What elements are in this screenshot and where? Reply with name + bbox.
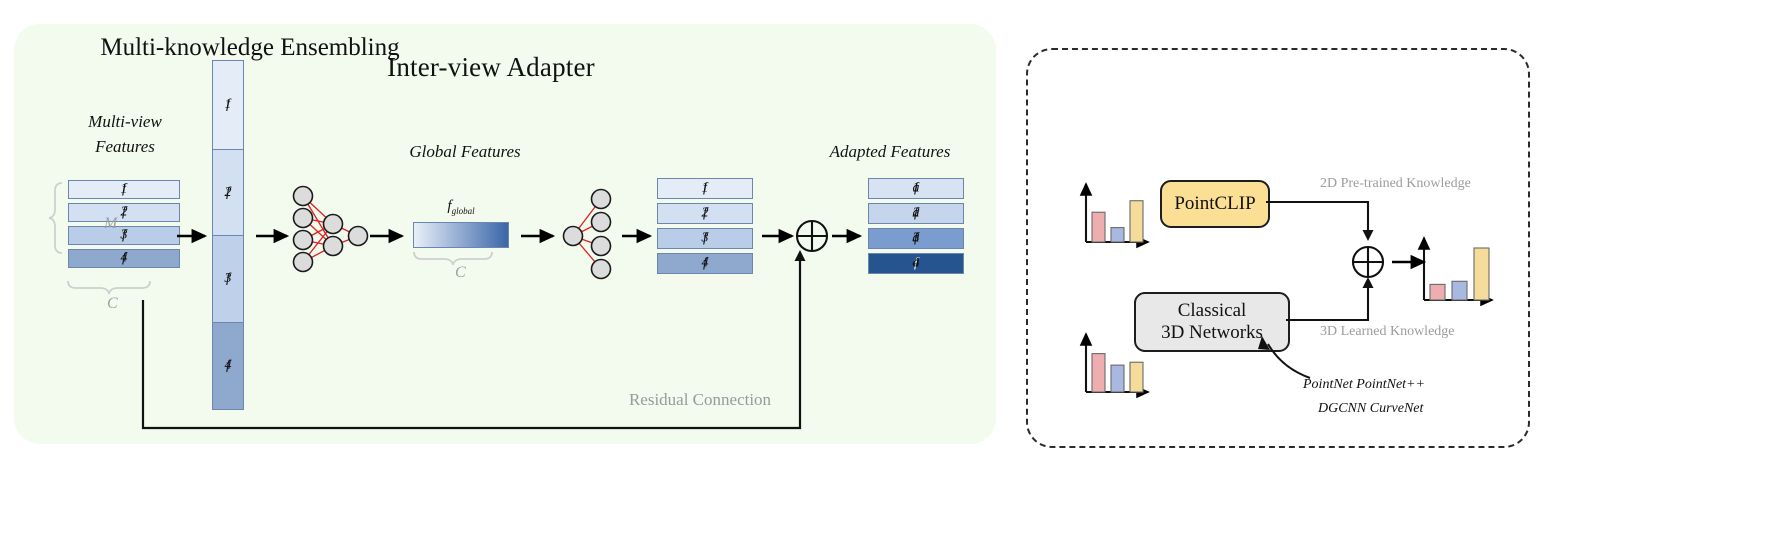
intermediate-feature-box-2: f2 <box>657 203 753 224</box>
feature-label: f2 <box>658 205 752 221</box>
feature-label: f1 <box>213 97 243 113</box>
feature-label: f1 <box>658 180 752 196</box>
concat-segment-3: f3 <box>212 235 244 323</box>
multi-knowledge-ensembling-panel <box>1026 48 1530 448</box>
adapted-feature-box-1: fa1 <box>868 178 964 199</box>
multi-view-feature-box-3: f3 <box>68 226 180 245</box>
brace-label-M: M <box>104 215 117 233</box>
feature-label: f4 <box>69 250 179 266</box>
adapted-features-label: Adapted Features <box>790 140 990 165</box>
concat-segment-2: f2 <box>212 149 244 237</box>
classical-3d-networks-box[interactable]: Classical 3D Networks <box>1134 292 1290 352</box>
multi-view-feature-box-1: f1 <box>68 180 180 199</box>
brace-label-C-global: C <box>455 264 466 282</box>
feature-label: f2 <box>213 185 243 201</box>
note-3d-learned-knowledge: 3D Learned Knowledge <box>1320 324 1455 340</box>
feature-label: fa4 <box>869 255 963 271</box>
concat-segment-4: f4 <box>212 322 244 410</box>
multi-view-feature-stack: f1f2f3f4 <box>68 180 180 272</box>
feature-label: f4 <box>213 358 243 374</box>
network-names-line2: DGCNN CurveNet <box>1318 401 1423 417</box>
note-2d-pretrained-knowledge: 2D Pre-trained Knowledge <box>1320 176 1471 192</box>
classical-label-line1: Classical <box>1161 300 1263 322</box>
residual-connection-label: Residual Connection <box>600 390 800 410</box>
global-features-label: Global Features <box>370 140 560 165</box>
intermediate-feature-box-4: f4 <box>657 253 753 274</box>
adapted-feature-box-3: fa3 <box>868 228 964 249</box>
feature-label: f2 <box>69 204 179 220</box>
multi-view-feature-box-4: f4 <box>68 249 180 268</box>
adapted-feature-box-4: fa4 <box>868 253 964 274</box>
multi-view-features-label: Multi-view Features <box>40 110 210 159</box>
network-names-line1: PointNet PointNet++ <box>1303 377 1425 393</box>
feature-label: f3 <box>658 230 752 246</box>
multi-view-feature-box-2: f2 <box>68 203 180 222</box>
concatenated-feature-column: f1f2f3f4 <box>212 60 244 408</box>
right-panel-title: Multi-knowledge Ensembling <box>0 34 500 62</box>
global-feature-bar <box>413 222 509 248</box>
intermediate-feature-stack: f1f2f3f4 <box>657 178 753 278</box>
feature-label: f1 <box>69 181 179 197</box>
brace-label-C-left: C <box>107 295 118 313</box>
feature-label: fa1 <box>869 180 963 196</box>
feature-label: f3 <box>213 271 243 287</box>
classical-label-line2: 3D Networks <box>1161 322 1263 344</box>
intermediate-feature-box-1: f1 <box>657 178 753 199</box>
f-global-label: fglobal <box>413 196 509 218</box>
concat-segment-1: f1 <box>212 60 244 150</box>
adapted-feature-stack: fa1fa2fa3fa4 <box>868 178 964 278</box>
feature-label: fa3 <box>869 230 963 246</box>
adapted-feature-box-2: fa2 <box>868 203 964 224</box>
feature-label: f4 <box>658 255 752 271</box>
feature-label: fa2 <box>869 205 963 221</box>
intermediate-feature-box-3: f3 <box>657 228 753 249</box>
pointclip-box[interactable]: PointCLIP <box>1160 180 1270 228</box>
feature-label: f3 <box>69 227 179 243</box>
